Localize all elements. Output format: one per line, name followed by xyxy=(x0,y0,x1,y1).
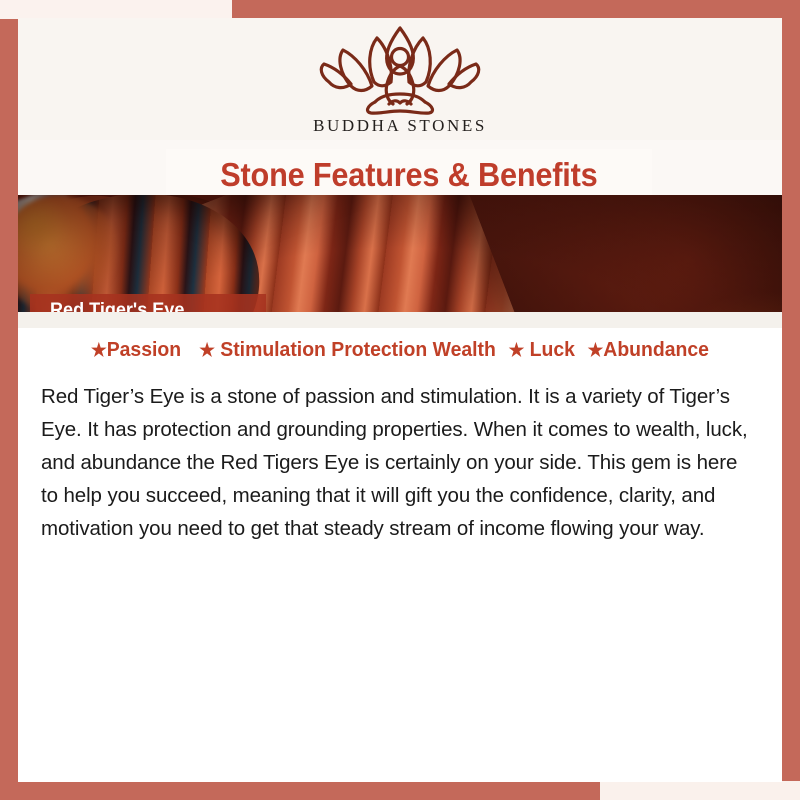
body-section: ★Passion ★ Stimulation Protection Wealth… xyxy=(18,312,782,782)
keyword-label-passion: Passion xyxy=(107,339,181,361)
brand-header: BUDDHA STONES xyxy=(18,18,782,140)
brand-logo xyxy=(18,24,782,116)
title-plate: Stone Features & Benefits xyxy=(166,149,652,201)
content-card: BUDDHA STONES Stone Features & Benefits … xyxy=(18,18,782,782)
body-top-strip xyxy=(18,312,782,328)
keyword-item-luck: ★ Luck xyxy=(503,339,575,361)
brand-name: BUDDHA STONES xyxy=(18,116,782,136)
frame-band-top-diagonal xyxy=(0,0,800,18)
keyword-list: ★Passion ★ Stimulation Protection Wealth… xyxy=(29,339,770,362)
star-icon: ★ xyxy=(199,340,215,360)
keyword-item-abundance: ★Abundance xyxy=(582,339,709,361)
keyword-item-passion: ★Passion xyxy=(91,339,181,361)
frame-band-right xyxy=(782,0,800,800)
keyword-label-luck: Luck xyxy=(530,339,575,361)
frame-corner-bottom-right xyxy=(600,781,800,800)
description-paragraph: Red Tiger’s Eye is a stone of passion an… xyxy=(41,380,759,545)
keyword-label-stimulation: Stimulation Protection Wealth xyxy=(220,339,496,361)
lotus-meditation-figure-icon xyxy=(315,24,485,116)
infographic-page: BUDDHA STONES Stone Features & Benefits … xyxy=(0,0,800,800)
star-icon: ★ xyxy=(91,340,107,360)
keyword-label-abundance: Abundance xyxy=(603,339,709,361)
star-icon: ★ xyxy=(588,340,604,360)
page-title: Stone Features & Benefits xyxy=(220,156,597,194)
frame-corner-top-left xyxy=(0,0,232,19)
frame-band-left xyxy=(0,0,18,800)
star-icon: ★ xyxy=(509,340,525,360)
frame-band-bottom-diagonal xyxy=(0,782,800,800)
keyword-item-stimulation: ★ Stimulation Protection Wealth xyxy=(188,339,495,361)
